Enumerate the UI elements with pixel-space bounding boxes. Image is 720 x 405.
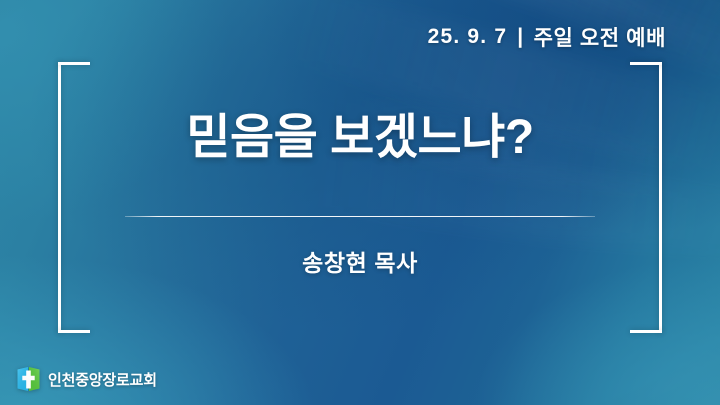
sermon-title-slide: 25. 9. 7 | 주일 오전 예배 믿음을 보겠느냐? 송창현 목사 bbox=[0, 0, 720, 405]
header-separator: | bbox=[507, 25, 533, 49]
slide-content: 믿음을 보겠느냐? 송창현 목사 bbox=[58, 62, 662, 333]
open-book-cross-icon bbox=[16, 366, 41, 393]
header-service-info: 25. 9. 7 | 주일 오전 예배 bbox=[428, 22, 666, 52]
title-divider bbox=[125, 216, 595, 217]
speaker-name: 송창현 목사 bbox=[302, 244, 418, 278]
church-name: 인천중앙장로교회 bbox=[48, 369, 157, 390]
church-logo: 인천중앙장로교회 bbox=[16, 366, 157, 393]
service-date: 25. 9. 7 bbox=[428, 25, 508, 49]
light-streak bbox=[432, 0, 720, 22]
service-name: 주일 오전 예배 bbox=[534, 22, 666, 52]
sermon-title: 믿음을 보겠느냐? bbox=[186, 111, 533, 165]
